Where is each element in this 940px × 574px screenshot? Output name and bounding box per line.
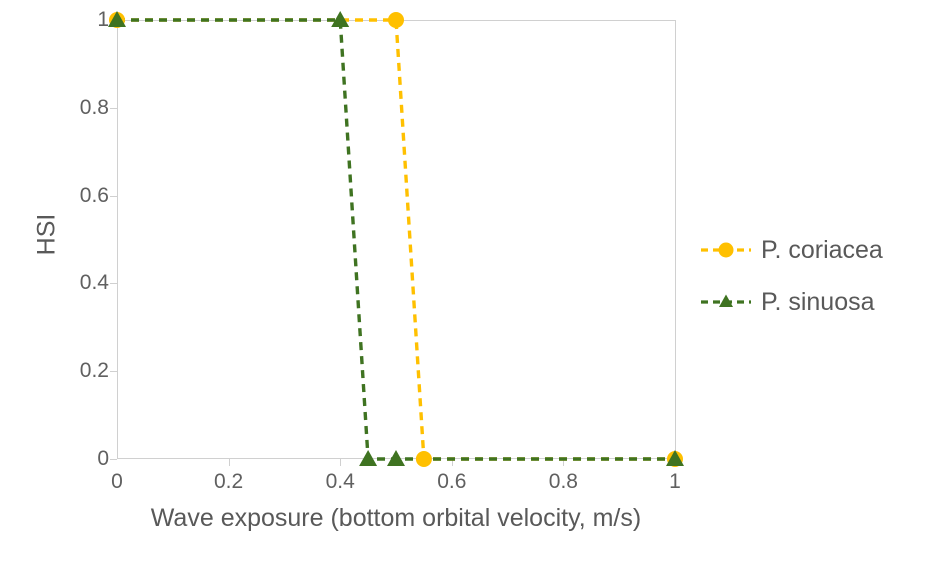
plot-frame-right <box>675 20 676 460</box>
y-axis-tick <box>110 196 117 197</box>
legend-item-sinuosa[interactable]: P. sinuosa <box>700 287 883 317</box>
chart-container: 00.20.40.60.8100.20.40.60.81 Wave exposu… <box>0 0 940 574</box>
x-axis-tick <box>563 459 564 466</box>
x-axis-tick <box>340 459 341 466</box>
x-axis-tick-label: 0.6 <box>392 470 512 494</box>
x-axis-tick <box>452 459 453 466</box>
y-axis-tick <box>110 371 117 372</box>
legend-label-sinuosa: P. sinuosa <box>761 290 875 315</box>
x-axis-tick <box>675 459 676 466</box>
x-axis-title: Wave exposure (bottom orbital velocity, … <box>117 504 675 533</box>
y-axis-tick-label: 0 <box>9 447 109 471</box>
plot-frame-top <box>117 20 675 21</box>
x-axis-tick-label: 0 <box>57 470 177 494</box>
plot-area <box>117 20 675 459</box>
y-axis-tick <box>110 20 117 21</box>
x-axis-tick <box>229 459 230 466</box>
y-axis-tick-label: 0.2 <box>9 359 109 383</box>
x-axis-tick-label: 0.4 <box>280 470 400 494</box>
legend-line-circle-icon <box>700 239 752 261</box>
legend-line-triangle-icon <box>700 291 752 313</box>
x-axis-tick-label: 1 <box>615 470 735 494</box>
y-axis-title: HSI <box>33 175 62 295</box>
legend-label-coriacea: P. coriacea <box>761 238 883 263</box>
y-axis-tick <box>110 459 117 460</box>
legend-item-coriacea[interactable]: P. coriacea <box>700 235 883 265</box>
y-axis-tick-label: 1 <box>9 8 109 32</box>
chart-legend: P. coriacea P. sinuosa <box>700 235 883 317</box>
y-axis-tick-label: 0.8 <box>9 96 109 120</box>
x-axis-tick-label: 0.2 <box>169 470 289 494</box>
y-axis-tick <box>110 283 117 284</box>
y-axis-tick <box>110 108 117 109</box>
x-axis-tick-label: 0.8 <box>503 470 623 494</box>
